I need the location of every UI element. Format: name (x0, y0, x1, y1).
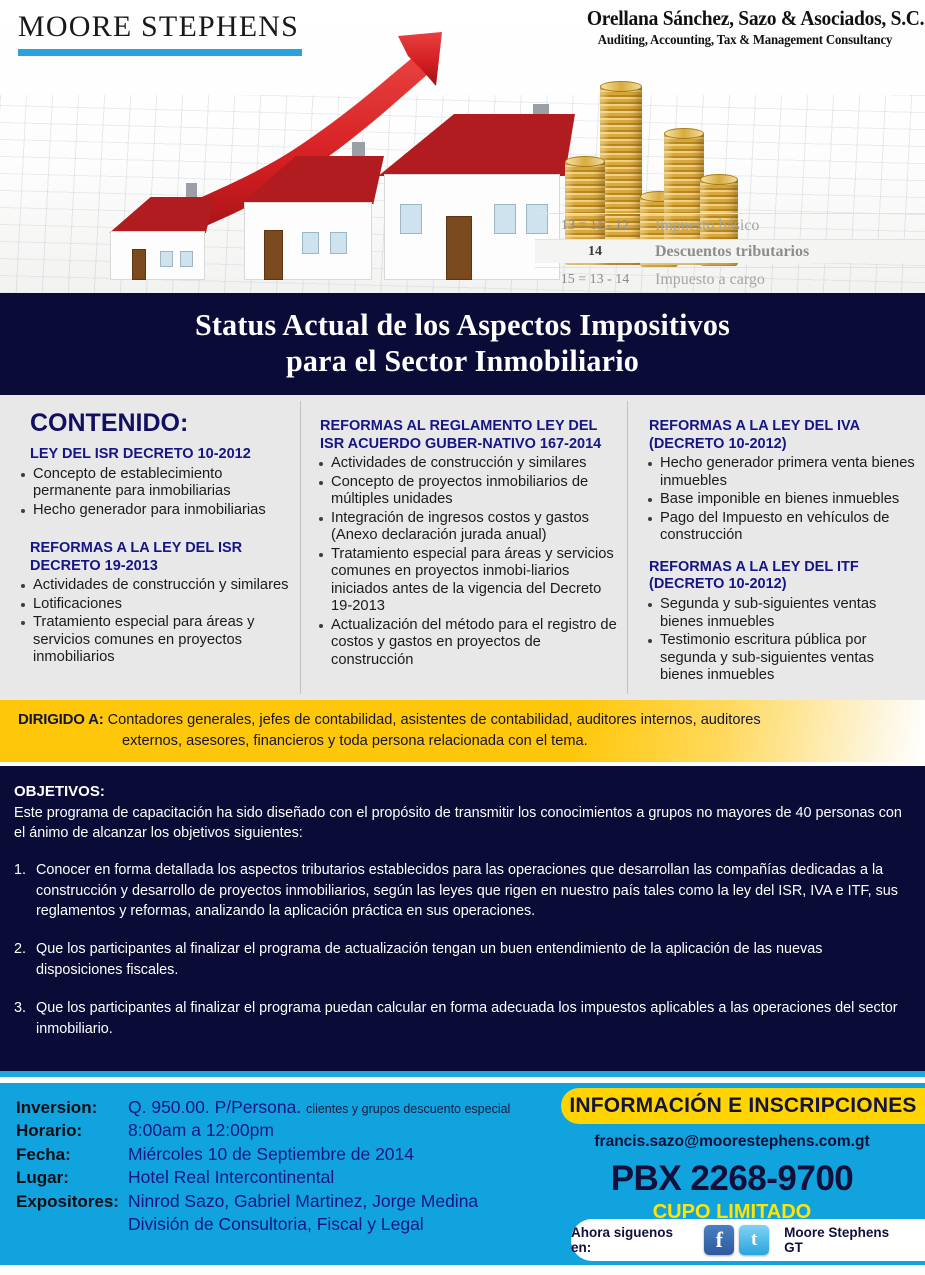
section-heading: REFORMAS A LA LEY DEL IVA (DECRETO 10-20… (649, 418, 915, 453)
footer-section: Inversion: Q. 950.00. P/Persona. cliente… (0, 1083, 925, 1265)
detail-row: Expositores: Ninrod Sazo, Gabriel Martin… (16, 1191, 576, 1212)
detail-row: División de Consultoria, Fiscal y Legal (16, 1214, 576, 1235)
social-bar: Ahora siguenos en: f t Moore Stephens GT (571, 1219, 925, 1261)
flyer-page: 13 = 11 - 12 Impuesto básico 14 Descuent… (0, 0, 925, 1275)
detail-key: Inversion: (16, 1098, 128, 1118)
section-bullet-list: Hecho generador primera venta bienes inm… (645, 455, 915, 544)
follow-label: Ahora siguenos en: (571, 1225, 696, 1255)
contact-phone: PBX 2268-9700 (553, 1159, 911, 1199)
list-item: Tratamiento especial para áreas y servic… (18, 614, 290, 666)
list-item: Pago del Impuesto en vehículos de constr… (645, 510, 915, 545)
section-bullet-list: Actividades de construcción y similares … (316, 455, 617, 669)
detail-value: División de Consultoria, Fiscal y Legal (128, 1214, 424, 1235)
objetivos-list: 1. Conocer en forma detallada los aspect… (14, 860, 905, 1040)
contenido-column-2: REFORMAS AL REGLAMENTO LEY DEL ISR ACUER… (300, 405, 627, 686)
list-item: 2. Que los participantes al finalizar el… (14, 939, 905, 981)
tax-sheet-row: 15 = 13 - 14 Impuesto a cargo (535, 267, 925, 291)
item-text: Conocer en forma detallada los aspectos … (36, 860, 905, 923)
tax-sheet-row: 13 = 11 - 12 Impuesto básico (535, 213, 925, 237)
logo-underline-rule (18, 49, 302, 56)
twitter-icon[interactable]: t (739, 1225, 769, 1255)
item-text: Que los participantes al finalizar el pr… (36, 998, 905, 1040)
detail-row: Inversion: Q. 950.00. P/Persona. cliente… (16, 1097, 576, 1118)
firm-name-block: Orellana Sánchez, Sazo & Asociados, S.C.… (575, 6, 915, 48)
list-item: Actividades de construcción y similares (18, 577, 290, 594)
contenido-column-1: CONTENIDO: LEY DEL ISR DECRETO 10-2012 C… (0, 405, 300, 686)
detail-key: Horario: (16, 1121, 128, 1141)
contenido-section: CONTENIDO: LEY DEL ISR DECRETO 10-2012 C… (0, 395, 925, 700)
detail-value-main: Q. 950.00. P/Persona. (128, 1097, 301, 1117)
social-account-name: Moore Stephens GT (784, 1225, 911, 1255)
list-item: Concepto de proyectos inmobiliarios de m… (316, 474, 617, 509)
detail-value-note: clientes y grupos descuento especial (306, 1102, 510, 1116)
item-text: Que los participantes al finalizar el pr… (36, 939, 905, 981)
detail-value: Ninrod Sazo, Gabriel Martinez, Jorge Med… (128, 1191, 478, 1212)
title-line-2: para el Sector Inmobiliario (286, 343, 639, 378)
tax-row-number: 14 (535, 244, 655, 260)
objetivos-section: OBJETIVOS: Este programa de capacitación… (0, 773, 925, 1071)
section-heading: REFORMAS A LA LEY DEL ITF (DECRETO 10-20… (649, 559, 915, 594)
tax-row-number: 15 = 13 - 14 (535, 272, 655, 288)
list-item: Hecho generador primera venta bienes inm… (645, 455, 915, 490)
detail-value: Q. 950.00. P/Persona. clientes y grupos … (128, 1097, 510, 1118)
list-item: Tratamiento especial para áreas y servic… (316, 546, 617, 616)
dirigido-text-2: externos, asesores, financieros y toda p… (18, 731, 899, 752)
list-item: Lotificaciones (18, 596, 290, 613)
section-heading: LEY DEL ISR DECRETO 10-2012 (30, 446, 290, 464)
list-item: Base imponible en bienes inmuebles (645, 491, 915, 508)
contact-email[interactable]: francis.sazo@moorestephens.com.gt (553, 1133, 911, 1151)
list-item: Segunda y sub-siguientes ventas bienes i… (645, 596, 915, 631)
tax-row-label: Descuentos tributarios (655, 243, 809, 261)
event-details-list: Inversion: Q. 950.00. P/Persona. cliente… (16, 1097, 576, 1238)
list-item: Hecho generador para inmobiliarias (18, 502, 290, 519)
list-item: Concepto de establecimiento permanente p… (18, 466, 290, 501)
list-item: Testimonio escritura pública por segunda… (645, 632, 915, 684)
detail-row: Horario: 8:00am a 12:00pm (16, 1120, 576, 1141)
item-number: 1. (14, 860, 36, 923)
info-badge: INFORMACIÓN E INSCRIPCIONES (561, 1088, 925, 1124)
facebook-icon[interactable]: f (704, 1225, 734, 1255)
contact-panel: INFORMACIÓN E INSCRIPCIONES francis.sazo… (553, 1083, 925, 1265)
tax-row-label: Impuesto a cargo (655, 271, 765, 289)
tax-row-number: 13 = 11 - 12 (535, 218, 655, 234)
detail-value: Hotel Real Intercontinental (128, 1167, 334, 1188)
objetivos-heading: OBJETIVOS: (14, 783, 905, 800)
item-number: 3. (14, 998, 36, 1040)
list-item: Actividades de construcción y similares (316, 455, 617, 472)
hero-banner: 13 = 11 - 12 Impuesto básico 14 Descuent… (0, 0, 925, 293)
item-number: 2. (14, 939, 36, 981)
footer-divider-rules (0, 1071, 925, 1083)
house-medium-illustration (232, 148, 384, 280)
section-heading: REFORMAS AL REGLAMENTO LEY DEL ISR ACUER… (320, 418, 617, 453)
tax-row-label: Impuesto básico (655, 217, 759, 235)
list-item: 3. Que los participantes al finalizar el… (14, 998, 905, 1040)
page-title: Status Actual de los Aspectos Impositivo… (14, 307, 911, 379)
tax-sheet-rows: 13 = 11 - 12 Impuesto básico 14 Descuent… (535, 213, 925, 293)
firm-name: Orellana Sánchez, Sazo & Asociados, S.C. (587, 6, 903, 31)
detail-key: Expositores: (16, 1192, 128, 1212)
section-bullet-list: Actividades de construcción y similares … (18, 577, 290, 666)
section-heading: REFORMAS A LA LEY DEL ISR DECRETO 19-201… (30, 540, 290, 575)
section-bullet-list: Segunda y sub-siguientes ventas bienes i… (645, 596, 915, 684)
dirigido-line-1: DIRIGIDO A: Contadores generales, jefes … (18, 709, 899, 731)
title-line-1: Status Actual de los Aspectos Impositivo… (195, 307, 730, 342)
dirigido-a-band: DIRIGIDO A: Contadores generales, jefes … (0, 700, 925, 766)
dirigido-label: DIRIGIDO A: (18, 711, 104, 728)
house-small-illustration (100, 185, 215, 280)
detail-value: 8:00am a 12:00pm (128, 1120, 274, 1141)
title-bar: Status Actual de los Aspectos Impositivo… (0, 293, 925, 395)
list-item: Actualización del método para el registr… (316, 617, 617, 669)
contenido-heading: CONTENIDO: (30, 409, 290, 438)
detail-row: Fecha: Miércoles 10 de Septiembre de 201… (16, 1144, 576, 1165)
contenido-column-3: REFORMAS A LA LEY DEL IVA (DECRETO 10-20… (627, 405, 925, 686)
list-item: 1. Conocer en forma detallada los aspect… (14, 860, 905, 923)
section-bullet-list: Concepto de establecimiento permanente p… (18, 466, 290, 519)
detail-row: Lugar: Hotel Real Intercontinental (16, 1167, 576, 1188)
info-badge-label: INFORMACIÓN E INSCRIPCIONES (569, 1094, 916, 1118)
spacer (16, 520, 290, 540)
detail-key: Lugar: (16, 1168, 128, 1188)
detail-value: Miércoles 10 de Septiembre de 2014 (128, 1144, 414, 1165)
firm-tagline: Auditing, Accounting, Tax & Management C… (584, 32, 907, 48)
objetivos-intro: Este programa de capacitación ha sido di… (14, 803, 905, 844)
tax-sheet-row: 14 Descuentos tributarios (535, 239, 925, 263)
spacer (643, 546, 915, 559)
dirigido-text-1: Contadores generales, jefes de contabili… (108, 712, 761, 728)
list-item: Integración de ingresos costos y gastos … (316, 510, 617, 545)
moore-stephens-logo: MOORE STEPHENS (18, 10, 306, 56)
navy-divider-rule (0, 766, 925, 773)
logo-wordmark: MOORE STEPHENS (18, 10, 306, 44)
detail-key: Fecha: (16, 1145, 128, 1165)
